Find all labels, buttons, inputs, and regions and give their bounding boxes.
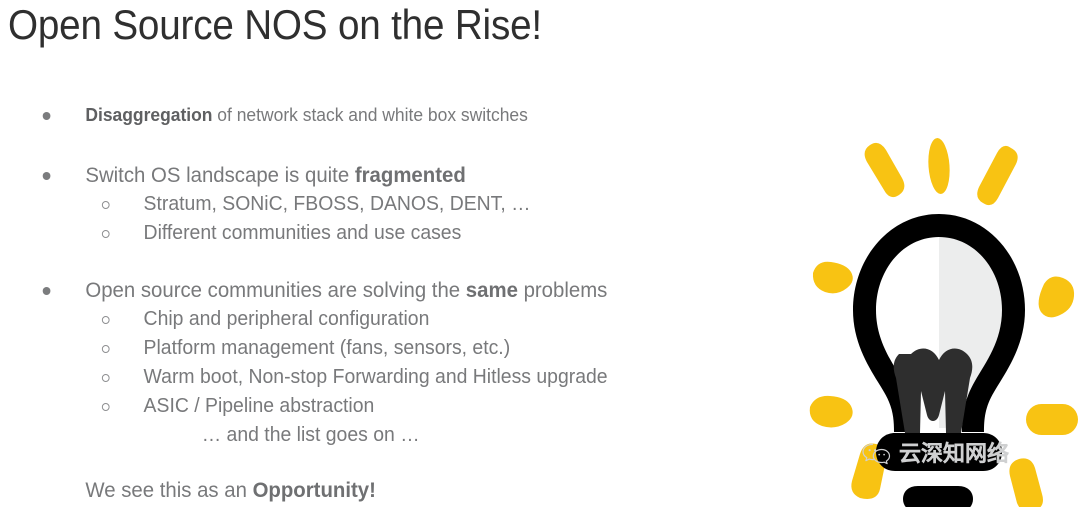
list-item: Warm boot, Non-stop Forwarding and Hitle… <box>0 363 737 392</box>
list-item: ASIC / Pipeline abstraction <box>0 392 737 421</box>
list-item-label: Open source communities are solving the <box>85 279 465 302</box>
closing-statement-label: We see this as an <box>85 479 252 502</box>
hollow-circle-bullet-icon <box>102 190 110 219</box>
closing-statement-emphasis: Opportunity! <box>253 479 376 502</box>
filled-circle-bullet-icon <box>43 277 52 305</box>
list-item-label: of network stack and white box switches <box>212 105 527 125</box>
bulb-contact-tip <box>903 486 973 507</box>
list-item-emphasis: same <box>466 279 518 302</box>
list-item-label: … and the list goes on … <box>202 424 420 446</box>
list-item: Platform management (fans, sensors, etc.… <box>0 334 737 363</box>
list-item: Different communities and use cases <box>0 219 737 248</box>
lightbulb-idea-icon <box>798 118 1080 507</box>
list-item-label: Different communities and use cases <box>144 222 462 244</box>
hollow-circle-bullet-icon <box>102 305 110 334</box>
page-title: Open Source NOS on the Rise! <box>8 0 542 52</box>
list-item: Stratum, SONiC, FBOSS, DANOS, DENT, … <box>0 190 737 219</box>
spacer <box>0 128 760 162</box>
bulb-base-band <box>876 433 1002 471</box>
list-item-emphasis: Disaggregation <box>85 105 212 125</box>
list-item: … and the list goes on … <box>0 421 737 450</box>
filled-circle-bullet-icon <box>43 162 52 190</box>
list-item-label-tail: problems <box>518 279 607 302</box>
closing-statement: We see this as an Opportunity! <box>0 477 737 505</box>
list-item: Disaggregation of network stack and whit… <box>0 103 737 128</box>
list-item-label: ASIC / Pipeline abstraction <box>144 395 375 417</box>
spacer <box>0 450 760 477</box>
hollow-circle-bullet-icon <box>102 363 110 392</box>
bullet-list: Disaggregation of network stack and whit… <box>0 103 760 505</box>
list-item-label: Warm boot, Non-stop Forwarding and Hitle… <box>144 366 608 388</box>
list-item: Open source communities are solving the … <box>0 277 737 305</box>
list-item: Switch OS landscape is quite fragmented <box>0 162 737 190</box>
list-item: Chip and peripheral configuration <box>0 305 737 334</box>
list-item-label: Platform management (fans, sensors, etc.… <box>144 337 511 359</box>
hollow-circle-bullet-icon <box>102 392 110 421</box>
list-item-label: Chip and peripheral configuration <box>144 308 430 330</box>
list-item-label: Switch OS landscape is quite <box>85 164 354 187</box>
hollow-circle-bullet-icon <box>102 219 110 248</box>
list-item-label: Stratum, SONiC, FBOSS, DANOS, DENT, … <box>144 193 531 215</box>
spacer <box>0 248 760 277</box>
list-item-emphasis: fragmented <box>355 164 466 187</box>
filled-circle-bullet-icon <box>43 103 52 128</box>
hollow-circle-bullet-icon <box>102 334 110 363</box>
